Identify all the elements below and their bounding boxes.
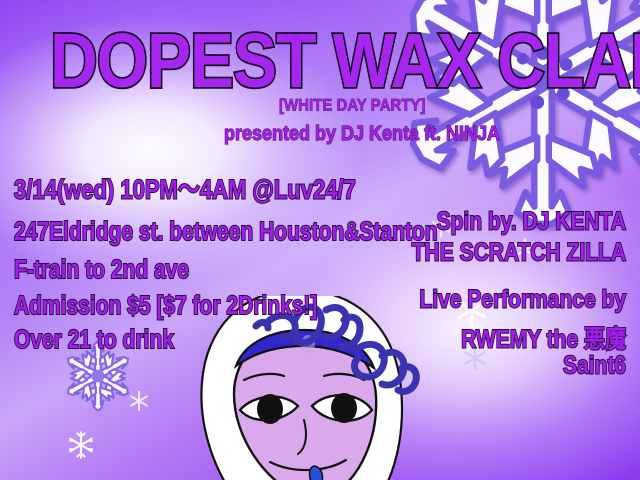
event-detail-date-venue: 3/14(wed) 10PM〜4AM @Luv24/7 xyxy=(14,168,356,207)
flyer-poster: DOPEST WAX CLAN [WHITE DAY PARTY] presen… xyxy=(0,0,640,480)
event-detail-transit: F-train to 2nd ave xyxy=(14,256,189,285)
lineup-rwemy: RWEMY the 悪魔 xyxy=(461,320,626,356)
lineup-live-performance-label: Live Performance by xyxy=(419,286,626,315)
page-title: DOPEST WAX CLAN xyxy=(50,22,640,99)
event-detail-address: 247Eldridge st. between Houston&Stanton xyxy=(14,218,438,247)
event-detail-admission: Admission $5 [$7 for 2Drinks!] xyxy=(14,292,317,321)
poster-subtitle: [WHITE DAY PARTY] xyxy=(279,96,425,115)
snowflake-icon-small xyxy=(128,390,150,412)
lineup-scratch-zilla: THE SCRATCH ZILLA xyxy=(412,239,626,268)
ninja-character xyxy=(148,296,448,480)
lineup-saint6: Saint6 xyxy=(563,352,626,381)
event-detail-age-limit: Over 21 to drink xyxy=(14,326,174,355)
snowflake-icon-small xyxy=(66,430,96,460)
presented-by-line: presented by DJ Kenta ft. NINJA xyxy=(224,122,500,146)
lineup-spin-by: Spin by. DJ KENTA xyxy=(437,208,626,237)
